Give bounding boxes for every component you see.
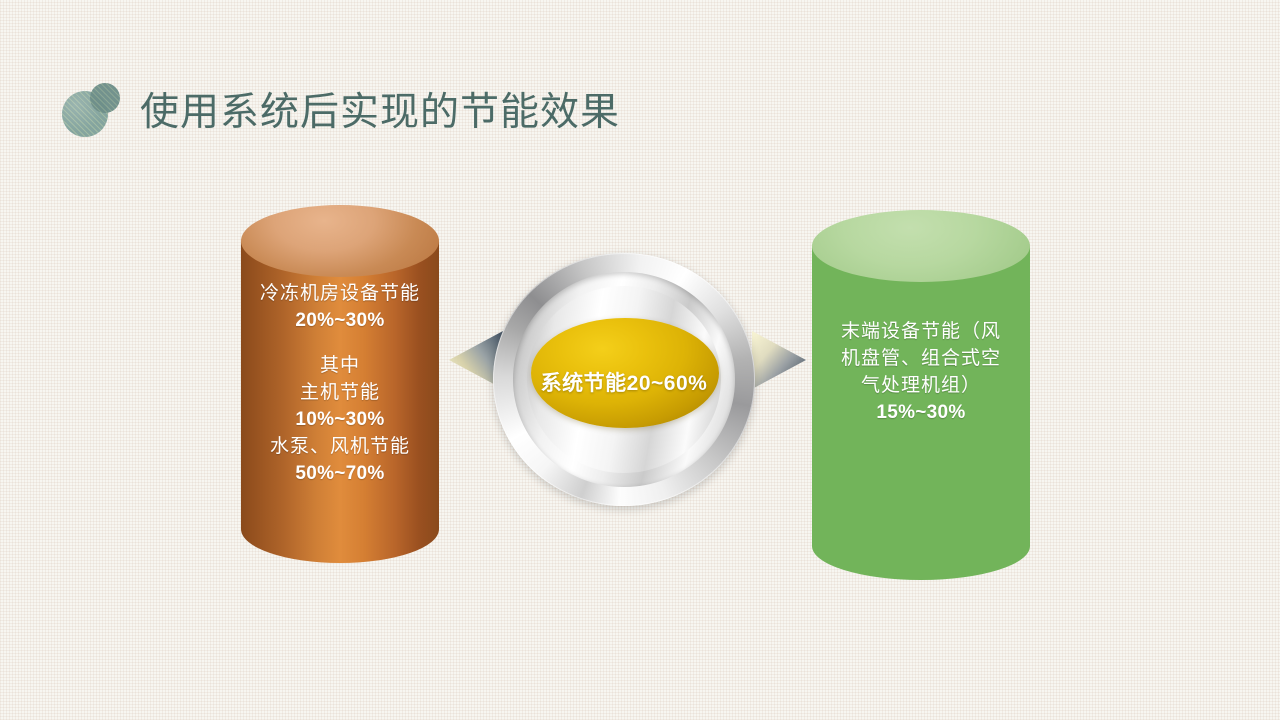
center-badge: 系统节能20~60%: [493, 253, 755, 506]
right-line-3: 气处理机组）: [812, 372, 1030, 399]
left-line-1: 冷冻机房设备节能: [241, 280, 439, 307]
right-cylinder-top: [812, 210, 1030, 282]
left-line-3: 其中: [241, 352, 439, 379]
slide-canvas: 使用系统后实现的节能效果 冷冻机房设备节能 20%~30% 其中 主机节能 10…: [0, 0, 1280, 720]
right-line-4: 15%~30%: [812, 399, 1030, 426]
arrow-right-icon: [752, 329, 808, 391]
left-cylinder-text: 冷冻机房设备节能 20%~30% 其中 主机节能 10%~30% 水泵、风机节能…: [241, 280, 439, 487]
right-cylinder-text: 末端设备节能（风 机盘管、组合式空 气处理机组） 15%~30%: [812, 318, 1030, 426]
left-cylinder-top: [241, 205, 439, 277]
left-line-4: 主机节能: [241, 379, 439, 406]
badge-label: 系统节能20~60%: [493, 253, 755, 506]
left-text-spacer: [241, 334, 439, 352]
left-cylinder: 冷冻机房设备节能 20%~30% 其中 主机节能 10%~30% 水泵、风机节能…: [241, 205, 439, 563]
page-title: 使用系统后实现的节能效果: [140, 88, 620, 138]
left-line-5: 10%~30%: [241, 406, 439, 433]
left-line-2: 20%~30%: [241, 307, 439, 334]
left-line-6: 水泵、风机节能: [241, 433, 439, 460]
left-line-7: 50%~70%: [241, 460, 439, 487]
logo-circles-icon: [62, 83, 124, 135]
logo-circle-small: [90, 83, 120, 113]
right-line-2: 机盘管、组合式空: [812, 345, 1030, 372]
right-cylinder: 末端设备节能（风 机盘管、组合式空 气处理机组） 15%~30%: [812, 210, 1030, 580]
title-block: 使用系统后实现的节能效果: [0, 38, 1280, 114]
right-line-1: 末端设备节能（风: [812, 318, 1030, 345]
